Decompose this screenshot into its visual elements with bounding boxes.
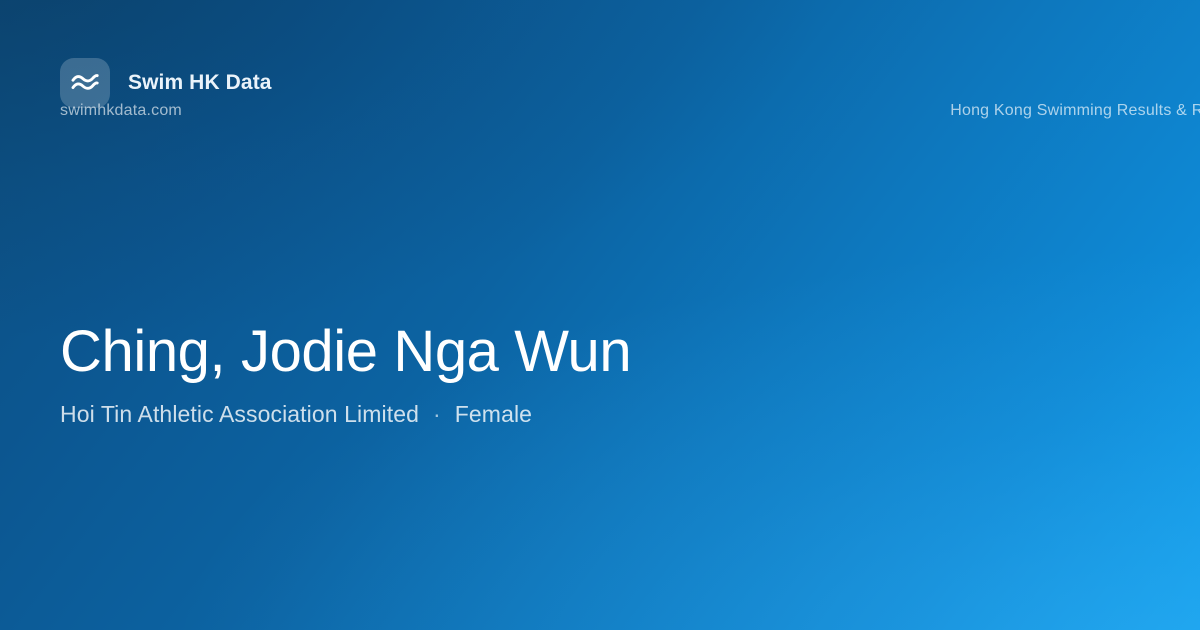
brand-logo-tile: [60, 58, 110, 108]
og-share-card: Swim HK Data Ching, Jodie Nga Wun Hoi Ti…: [0, 0, 1200, 630]
athlete-gender: Female: [455, 400, 532, 430]
headline-block: Ching, Jodie Nga Wun Hoi Tin Athletic As…: [60, 322, 1200, 430]
brand-name: Swim HK Data: [128, 71, 272, 95]
card-footer: swimhkdata.com Hong Kong Swimming Result…: [60, 102, 1200, 120]
brand-lockup[interactable]: Swim HK Data: [60, 58, 1200, 108]
athlete-name: Ching, Jodie Nga Wun: [60, 322, 1200, 382]
wave-icon: [70, 72, 100, 94]
footer-site-url[interactable]: swimhkdata.com: [60, 102, 182, 120]
athlete-club: Hoi Tin Athletic Association Limited: [60, 400, 419, 430]
footer-tagline: Hong Kong Swimming Results & Rankings: [950, 102, 1200, 120]
athlete-meta: Hoi Tin Athletic Association Limited · F…: [60, 400, 1200, 430]
meta-separator: ·: [433, 400, 441, 430]
